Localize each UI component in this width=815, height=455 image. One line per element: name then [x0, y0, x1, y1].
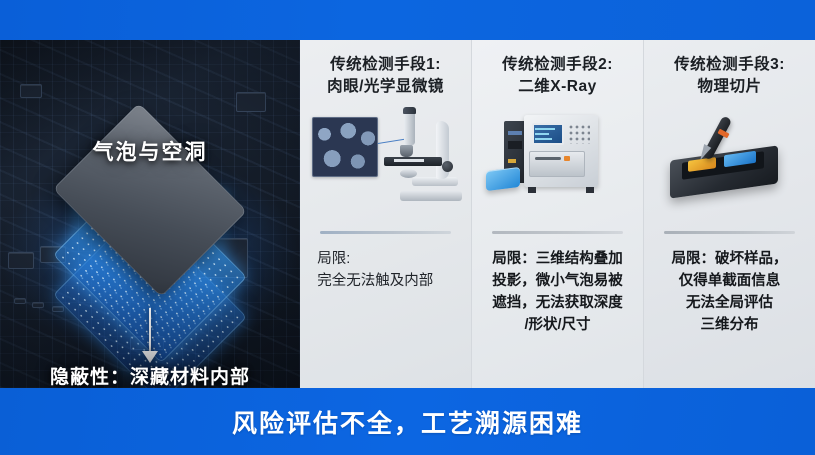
- top-blue-band: [0, 0, 815, 40]
- card-physical-sectioning: 传统检测手段3: 物理切片 局限：破坏样品， 仅得单截面信息 无法全局评估 三维…: [643, 40, 815, 388]
- microscope-illustration: [308, 107, 463, 225]
- bottom-blue-band: 风险评估不全，工艺溯源困难: [0, 388, 815, 455]
- card-limitation: 局限: 完全无法触及内部: [317, 248, 453, 292]
- photo-caption: 隐蔽性：深藏材料内部: [0, 362, 300, 388]
- card-title: 传统检测手段3: 物理切片: [674, 54, 785, 99]
- card-optical-microscope: 传统检测手段1: 肉眼/光学显微镜 局限: 完全无法触及内部: [300, 40, 471, 388]
- sample-block-icon: [486, 167, 520, 191]
- vignette-overlay: [0, 40, 300, 388]
- eyepiece-icon: [403, 107, 416, 114]
- sectioning-illustration: [652, 107, 807, 225]
- x-ray-machine-illustration: [480, 107, 635, 225]
- card-x-ray: 传统检测手段2: 二维X-Ray 局限：三维结构叠加 投影: [471, 40, 643, 388]
- chip-photo-panel: 气泡与空洞 隐蔽性：深藏材料内部: [0, 40, 300, 388]
- method-cards: 传统检测手段1: 肉眼/光学显微镜 局限: 完全无法触及内部 传统检测手段2: …: [300, 40, 815, 388]
- card-divider: [664, 231, 794, 234]
- card-divider: [320, 231, 450, 234]
- card-limitation: 局限：破坏样品， 仅得单截面信息 无法全局评估 三维分布: [672, 248, 788, 336]
- card-title: 传统检测手段2: 二维X-Ray: [502, 54, 613, 99]
- slide-root: 气泡与空洞 隐蔽性：深藏材料内部 传统检测手段1: 肉眼/光学显微镜: [0, 0, 815, 455]
- card-divider: [492, 231, 622, 234]
- card-title: 传统检测手段1: 肉眼/光学显微镜: [327, 54, 444, 99]
- card-limitation: 局限：三维结构叠加 投影，微小气泡易被 遮挡，无法获取深度 /形状/尺寸: [492, 248, 623, 336]
- status-led-icon: [564, 156, 570, 161]
- micrograph-image: [312, 117, 378, 177]
- focus-knob-icon: [442, 161, 453, 172]
- keypad-icon: [568, 124, 590, 144]
- objective-lens-icon: [400, 145, 413, 157]
- bottom-headline: 风险评估不全，工艺溯源困难: [232, 404, 583, 440]
